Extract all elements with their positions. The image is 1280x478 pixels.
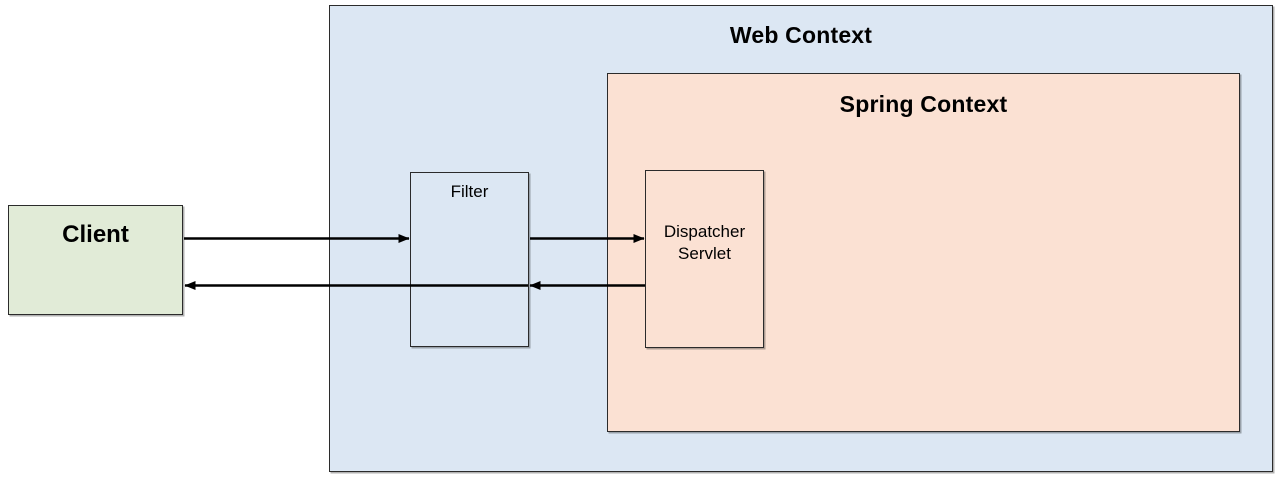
client-node: Client bbox=[8, 205, 183, 315]
filter-label: Filter bbox=[411, 183, 528, 200]
dispatcher-servlet-label: Dispatcher Servlet bbox=[646, 221, 763, 265]
filter-node: Filter bbox=[410, 172, 529, 347]
dispatcher-servlet-label-line2: Servlet bbox=[646, 243, 763, 265]
spring-context-title: Spring Context bbox=[608, 93, 1239, 116]
dispatcher-servlet-node: Dispatcher Servlet bbox=[645, 170, 764, 348]
dispatcher-servlet-label-line1: Dispatcher bbox=[646, 221, 763, 243]
client-label: Client bbox=[9, 223, 182, 247]
diagram-canvas: Web Context Spring Context Client Filter… bbox=[0, 0, 1280, 478]
web-context-title: Web Context bbox=[330, 24, 1272, 47]
